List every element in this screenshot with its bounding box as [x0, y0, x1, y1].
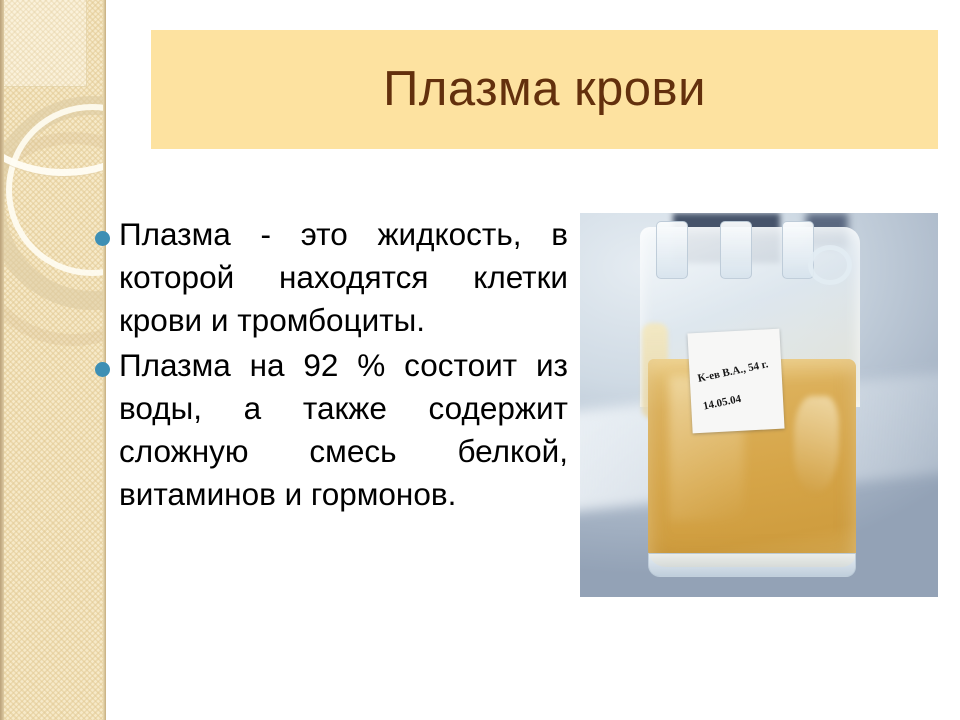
plasma-bag-port-icon — [656, 221, 688, 279]
plasma-bag-label: К-ев В.А., 54 г. 14.05.04 — [687, 329, 784, 434]
plasma-bag-port-icon — [720, 221, 752, 279]
bullet-text: Плазма на 92 % состоит из воды, а также … — [119, 344, 568, 516]
plasma-bag: К-ев В.А., 54 г. 14.05.04 — [632, 227, 872, 577]
plasma-bag-label-line-2: 14.05.04 — [702, 393, 742, 413]
plasma-bag-bottom-seal — [648, 553, 856, 577]
bullet-dot-icon — [95, 362, 110, 377]
page-title: Плазма крови — [383, 65, 706, 114]
bullet-text: Плазма - это жидкость, в которой находят… — [119, 213, 568, 342]
sidebar-corner-block — [0, 0, 87, 87]
blood-plasma-bag-photo: К-ев В.А., 54 г. 14.05.04 — [580, 213, 938, 597]
content-text-column: Плазма - это жидкость, в которой находят… — [86, 213, 568, 518]
sidebar-left-edge — [0, 0, 4, 720]
plasma-bag-label-line-1: К-ев В.А., 54 г. — [697, 358, 770, 385]
list-item: Плазма - это жидкость, в которой находят… — [86, 213, 568, 342]
plasma-bag-ports — [646, 221, 856, 277]
list-item: Плазма на 92 % состоит из воды, а также … — [86, 344, 568, 516]
plasma-bag-hang-ring-icon — [808, 245, 852, 285]
bullet-dot-icon — [95, 231, 110, 246]
slide: Плазма крови Плазма - это жидкость, в ко… — [0, 0, 960, 720]
plasma-fluid-crease — [794, 396, 840, 492]
title-banner: Плазма крови — [151, 30, 938, 149]
